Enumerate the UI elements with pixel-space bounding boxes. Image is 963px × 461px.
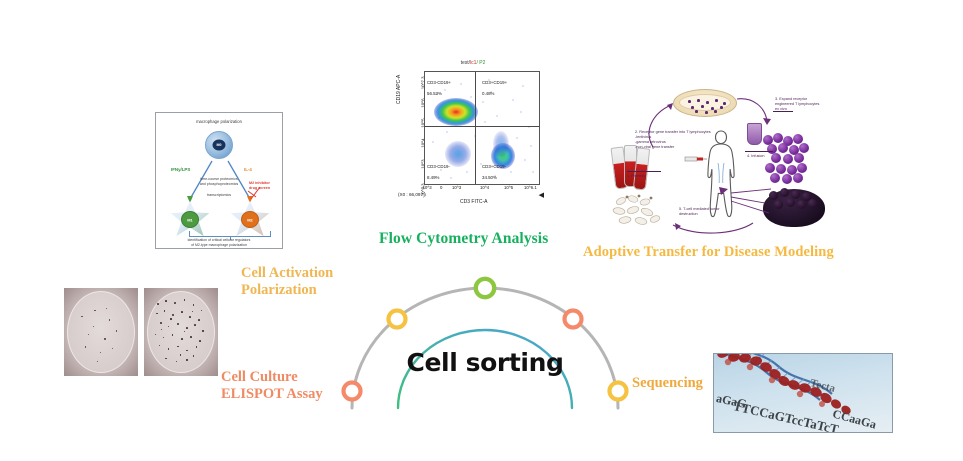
syringe-icon bbox=[683, 153, 707, 165]
quadrant-upper-right-label: CD3+CD19+ bbox=[482, 80, 507, 85]
flow-header-suffix: / P2 bbox=[476, 60, 485, 66]
figure-canvas: macrophage polarization M0 IFNy/LPS IL-4… bbox=[0, 0, 963, 461]
il4-label: IL-4 bbox=[244, 167, 252, 172]
tumor-cell-cluster bbox=[763, 185, 825, 215]
summary-bracket bbox=[189, 231, 271, 237]
macrophage-panel-footer: identification of critical cellular regu… bbox=[167, 238, 271, 247]
flow-event-count: (X0 : 66,097 ) bbox=[398, 192, 426, 197]
flow-y-axis-label: CD19 APC-A bbox=[396, 75, 402, 104]
quadrant-horizontal-divider bbox=[425, 126, 539, 127]
quadrant-lower-right: CD3+CD19- 34.50% bbox=[482, 159, 506, 182]
quadrant-upper-left-label: CD3-CD19+ bbox=[427, 80, 451, 85]
flow-scatter-plot[interactable]: CD3-CD19+ 56.53% CD3+CD19+ 0.48% CD3-CD1… bbox=[424, 71, 540, 185]
m2-nucleus: M2 bbox=[241, 211, 259, 228]
step1-line bbox=[627, 171, 661, 172]
ifn-lps-label: IFNy/LPS bbox=[171, 167, 190, 172]
m2-label: M2 bbox=[242, 217, 258, 222]
node-left-lower bbox=[344, 383, 361, 400]
caption-adoptive-transfer: Adoptive Transfer for Disease Modeling bbox=[583, 244, 834, 261]
quadrant-lower-right-label: CD3+CD19- bbox=[482, 164, 506, 169]
dna-sequencing-image: aGaG TTCCaGTccTaTcT CCaaGa Tecta bbox=[713, 353, 893, 433]
flow-x-tick-0: -10^3 bbox=[421, 185, 432, 190]
flow-cytometry-panel: test/lc1/ P2 CD19 APC-A 10^7.3 10^6 10^5… bbox=[398, 60, 548, 220]
quadrant-lower-left: CD3-CD19- 8.49% bbox=[427, 159, 450, 182]
node-left-upper bbox=[389, 311, 406, 328]
flow-plot-header: test/lc1/ P2 bbox=[398, 60, 548, 66]
step4-line bbox=[745, 151, 773, 152]
flow-x-tick-4: 10^5 bbox=[504, 185, 513, 190]
quadrant-upper-left: CD3-CD19+ 56.53% bbox=[427, 74, 451, 97]
flow-x-tick-1: 0 bbox=[440, 185, 442, 190]
flow-x-ticks: -10^3 0 10^3 10^4 10^5 10^6.1 bbox=[424, 185, 538, 195]
expanded-t-cell-cluster bbox=[761, 133, 819, 191]
node-top bbox=[476, 279, 494, 297]
quadrant-upper-left-value: 56.53% bbox=[427, 91, 442, 96]
flow-header-prefix: test/ bbox=[461, 60, 470, 66]
destroyed-tumor-debris bbox=[609, 193, 671, 229]
flow-x-tick-5: 10^6.1 bbox=[524, 185, 537, 190]
m2-inhibitor-note: M2 inhibitor drug screen bbox=[249, 181, 270, 191]
flow-x-axis-label: CD3 FITC-A bbox=[460, 199, 488, 205]
flow-y-ticks: 10^7.3 10^6 10^5 10^4 10^3 -10^3.3 bbox=[406, 71, 423, 183]
elispot-well-stimulated-circle bbox=[147, 291, 215, 373]
node-right-lower bbox=[610, 383, 627, 400]
step4-infusion-label: 4. Infusion bbox=[747, 154, 765, 159]
cell-sorting-arc: Cell sorting bbox=[330, 276, 640, 421]
flow-x-tick-2: 10^3 bbox=[452, 185, 461, 190]
quadrant-upper-right: CD3+CD19+ 0.48% bbox=[482, 74, 507, 97]
quadrant-upper-right-value: 0.48% bbox=[482, 91, 494, 96]
infusion-bag bbox=[747, 123, 762, 145]
node-right-upper bbox=[565, 311, 582, 328]
culture-dish bbox=[673, 89, 737, 117]
culture-dish-inner bbox=[679, 94, 731, 111]
flow-play-marker-icon[interactable]: ◀ bbox=[539, 191, 544, 199]
caption-cell-activation: Cell Activation Polarization bbox=[241, 265, 333, 299]
m1-nucleus: M1 bbox=[181, 211, 199, 228]
flow-x-tick-3: 10^4 bbox=[480, 185, 489, 190]
cell-sorting-label: Cell sorting bbox=[330, 348, 640, 377]
step2-gene-transfer-label: 2. Receptor gene transfer into T lymphoc… bbox=[635, 130, 711, 151]
transcriptomics-note: transcriptomics bbox=[185, 193, 253, 197]
caption-sequencing: Sequencing bbox=[632, 375, 703, 392]
step3-expand-label: 3. Expand receptor engineered T lymphocy… bbox=[775, 97, 819, 112]
macrophage-polarization-panel: macrophage polarization M0 IFNy/LPS IL-4… bbox=[155, 112, 283, 249]
caption-flow-cytometry: Flow Cytometry Analysis bbox=[379, 230, 548, 248]
quadrant-vertical-divider bbox=[475, 72, 476, 184]
quadrant-lower-left-label: CD3-CD19- bbox=[427, 164, 450, 169]
step5-tumor-destruction-label: 5. T-cell mediated tumor destruction bbox=[679, 207, 720, 217]
elispot-well-control-circle bbox=[67, 291, 135, 373]
elispot-well-stimulated bbox=[144, 288, 218, 376]
elispot-well-control bbox=[64, 288, 138, 376]
quadrant-lower-right-value: 34.50% bbox=[482, 175, 497, 180]
m1-label: M1 bbox=[182, 217, 198, 222]
quadrant-lower-left-value: 8.49% bbox=[427, 175, 439, 180]
proteomics-note: time-course proteomics and phosphoproteo… bbox=[185, 177, 253, 187]
adoptive-transfer-panel: 1. Pheresis 2. Receptor gene transfer in… bbox=[595, 85, 845, 237]
caption-cell-culture-elispot: Cell Culture ELISPOT Assay bbox=[221, 369, 323, 403]
step1-pheresis-label: 1. Pheresis bbox=[627, 174, 646, 179]
